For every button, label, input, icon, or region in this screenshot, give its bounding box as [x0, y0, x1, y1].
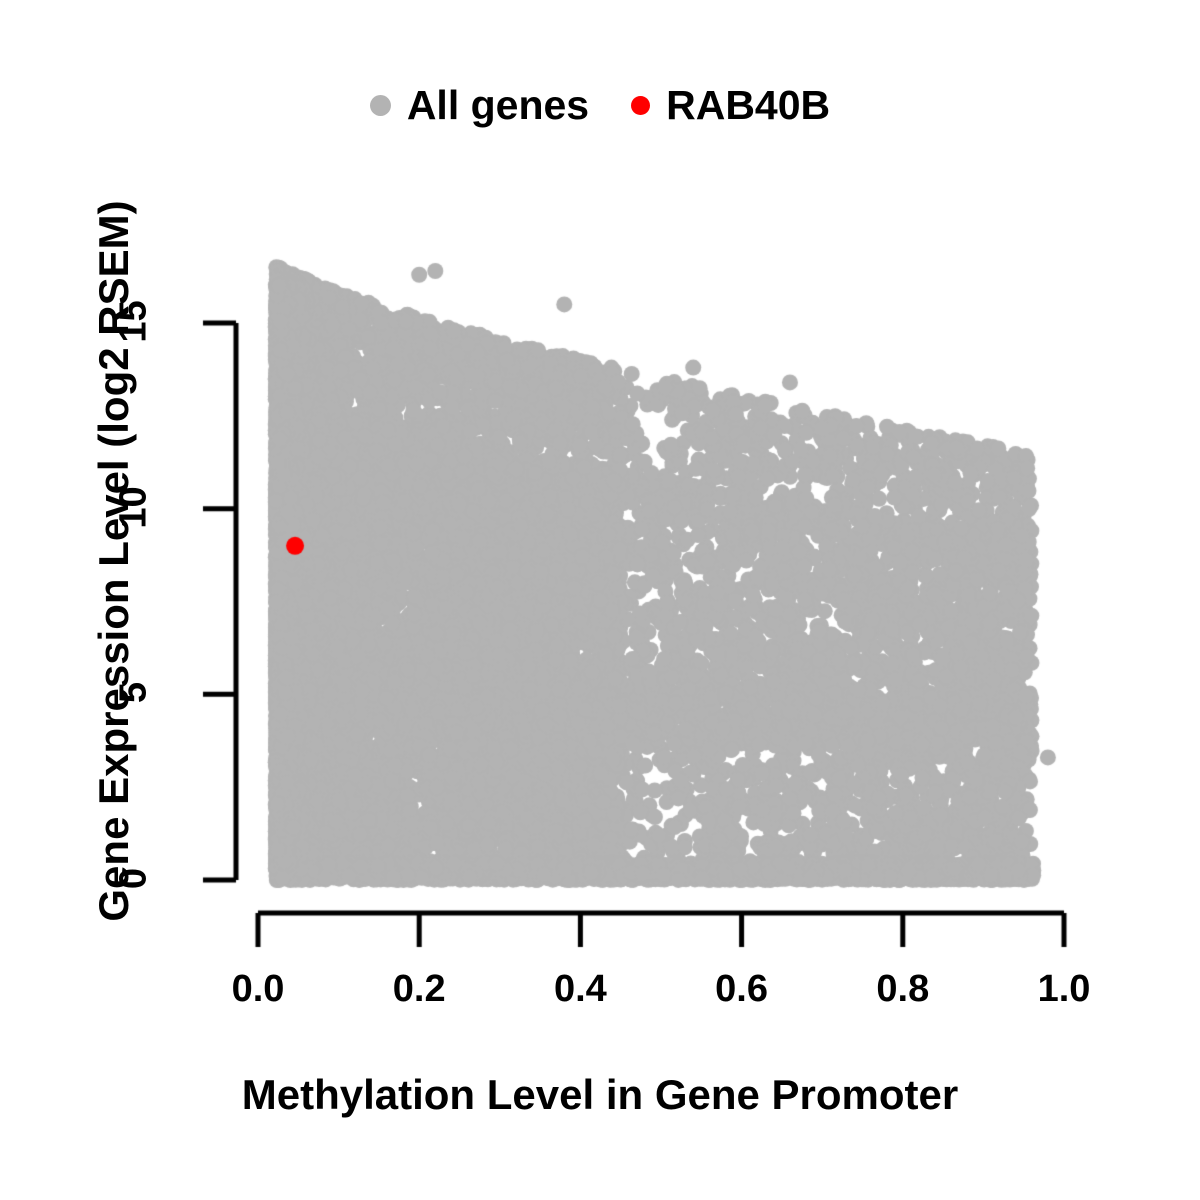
x-tick-label: 0.6: [682, 968, 802, 1011]
x-axis-title: Methylation Level in Gene Promoter: [0, 1068, 1200, 1122]
x-tick-label: 1.0: [1004, 968, 1124, 1011]
y-tick-label: 15: [113, 262, 156, 382]
x-tick-label: 0.0: [198, 968, 318, 1011]
y-tick-label: 10: [113, 447, 156, 567]
x-tick-label: 0.8: [843, 968, 963, 1011]
scatter-plot-figure: All genes RAB40B Methylation Level in Ge…: [0, 0, 1200, 1200]
y-tick-label: 5: [113, 633, 156, 753]
x-tick-label: 0.4: [520, 968, 640, 1011]
y-tick-label: 0: [113, 819, 156, 939]
scatter-plot-canvas: [0, 0, 1200, 1200]
x-tick-label: 0.2: [359, 968, 479, 1011]
